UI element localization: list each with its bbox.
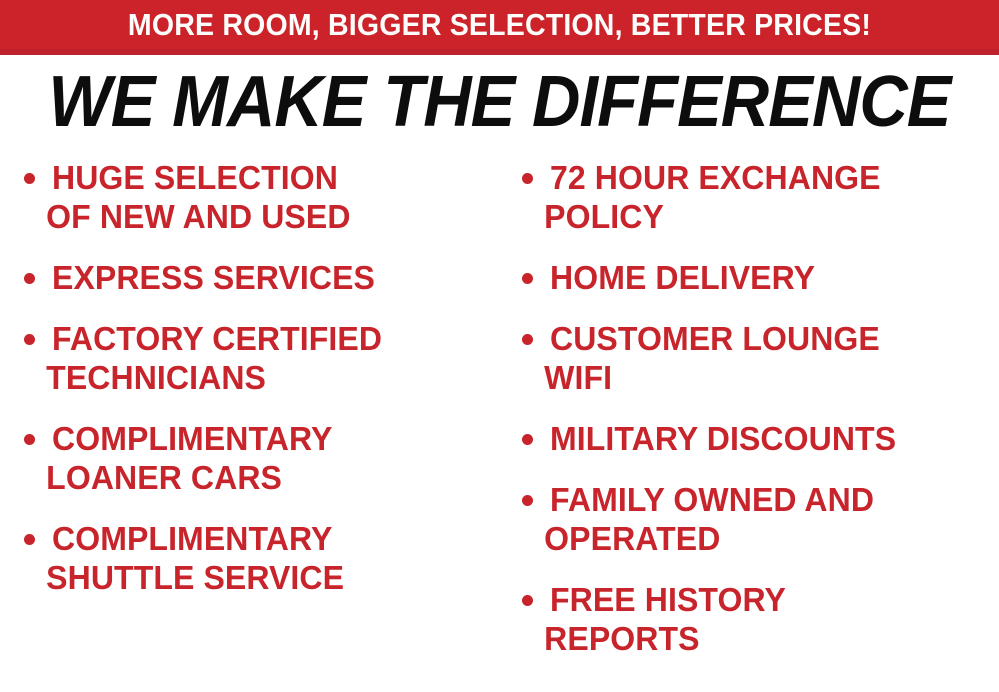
dot-bullet-icon bbox=[24, 173, 35, 184]
feature-list-item-line: TECHNICIANS bbox=[46, 358, 486, 397]
feature-list-item: HOME DELIVERY bbox=[512, 258, 999, 297]
feature-list-item-line: SHUTTLE SERVICE bbox=[46, 558, 486, 597]
feature-list-item-line: HOME DELIVERY bbox=[550, 258, 986, 297]
dot-bullet-icon bbox=[522, 334, 533, 345]
feature-list-item-line: FREE HISTORY bbox=[550, 580, 986, 619]
feature-list-item-text: CUSTOMER LOUNGEWIFI bbox=[550, 319, 986, 397]
dot-bullet-icon bbox=[24, 334, 35, 345]
feature-list-item-line: WIFI bbox=[544, 358, 985, 397]
feature-list-item-text: HOME DELIVERY bbox=[550, 258, 986, 297]
feature-list-item-line: FACTORY CERTIFIED bbox=[52, 319, 487, 358]
dot-bullet-icon bbox=[24, 434, 35, 445]
page-title: WE MAKE THE DIFFERENCE bbox=[35, 63, 964, 141]
dot-bullet-icon bbox=[522, 495, 533, 506]
feature-list-item-line: EXPRESS SERVICES bbox=[52, 258, 487, 297]
feature-list-item: EXPRESS SERVICES bbox=[14, 258, 500, 297]
dot-bullet-icon bbox=[522, 273, 533, 284]
dot-bullet-icon bbox=[522, 434, 533, 445]
feature-list-item-line: CUSTOMER LOUNGE bbox=[550, 319, 986, 358]
feature-list-item: HUGE SELECTIONOF NEW AND USED bbox=[14, 158, 500, 236]
feature-list-item-line: COMPLIMENTARY bbox=[52, 519, 487, 558]
features-columns: HUGE SELECTIONOF NEW AND USEDEXPRESS SER… bbox=[0, 158, 999, 692]
dot-bullet-icon bbox=[24, 273, 35, 284]
feature-list-item-line: COMPLIMENTARY bbox=[52, 419, 487, 458]
feature-list-item: MILITARY DISCOUNTS bbox=[512, 419, 999, 458]
feature-list-item: FREE HISTORYREPORTS bbox=[512, 580, 999, 658]
feature-list-item-line: OPERATED bbox=[544, 519, 985, 558]
feature-list-item-line: LOANER CARS bbox=[46, 458, 486, 497]
dot-bullet-icon bbox=[522, 173, 533, 184]
feature-list-item-text: HUGE SELECTIONOF NEW AND USED bbox=[52, 158, 487, 236]
feature-list-item-text: FACTORY CERTIFIEDTECHNICIANS bbox=[52, 319, 487, 397]
top-promo-banner: MORE ROOM, BIGGER SELECTION, BETTER PRIC… bbox=[0, 0, 999, 55]
feature-list-item-text: MILITARY DISCOUNTS bbox=[550, 419, 986, 458]
feature-list-item-text: FREE HISTORYREPORTS bbox=[550, 580, 986, 658]
feature-list-item-line: REPORTS bbox=[544, 619, 985, 658]
feature-list-item: FAMILY OWNED ANDOPERATED bbox=[512, 480, 999, 558]
feature-list-item-line: MILITARY DISCOUNTS bbox=[550, 419, 986, 458]
feature-list-item-text: EXPRESS SERVICES bbox=[52, 258, 487, 297]
feature-list-item: 72 HOUR EXCHANGEPOLICY bbox=[512, 158, 999, 236]
feature-list-item-text: COMPLIMENTARYSHUTTLE SERVICE bbox=[52, 519, 487, 597]
feature-list-item-line: FAMILY OWNED AND bbox=[550, 480, 986, 519]
dot-bullet-icon bbox=[522, 595, 533, 606]
feature-list-item-text: COMPLIMENTARYLOANER CARS bbox=[52, 419, 487, 497]
feature-list-item-line: POLICY bbox=[544, 197, 985, 236]
features-column-left: HUGE SELECTIONOF NEW AND USEDEXPRESS SER… bbox=[0, 158, 500, 692]
feature-list-item: FACTORY CERTIFIEDTECHNICIANS bbox=[14, 319, 500, 397]
feature-list-item-line: HUGE SELECTION bbox=[52, 158, 487, 197]
advertisement-banner: MORE ROOM, BIGGER SELECTION, BETTER PRIC… bbox=[0, 0, 999, 692]
feature-list-item-text: 72 HOUR EXCHANGEPOLICY bbox=[550, 158, 986, 236]
feature-list-item-line: 72 HOUR EXCHANGE bbox=[550, 158, 986, 197]
feature-list-item-text: FAMILY OWNED ANDOPERATED bbox=[550, 480, 986, 558]
feature-list-item: COMPLIMENTARYLOANER CARS bbox=[14, 419, 500, 497]
feature-list-item: CUSTOMER LOUNGEWIFI bbox=[512, 319, 999, 397]
promo-banner-text: MORE ROOM, BIGGER SELECTION, BETTER PRIC… bbox=[40, 0, 959, 49]
feature-list-item: COMPLIMENTARYSHUTTLE SERVICE bbox=[14, 519, 500, 597]
feature-list-item-line: OF NEW AND USED bbox=[46, 197, 486, 236]
features-column-right: 72 HOUR EXCHANGEPOLICYHOME DELIVERYCUSTO… bbox=[500, 158, 999, 692]
dot-bullet-icon bbox=[24, 534, 35, 545]
